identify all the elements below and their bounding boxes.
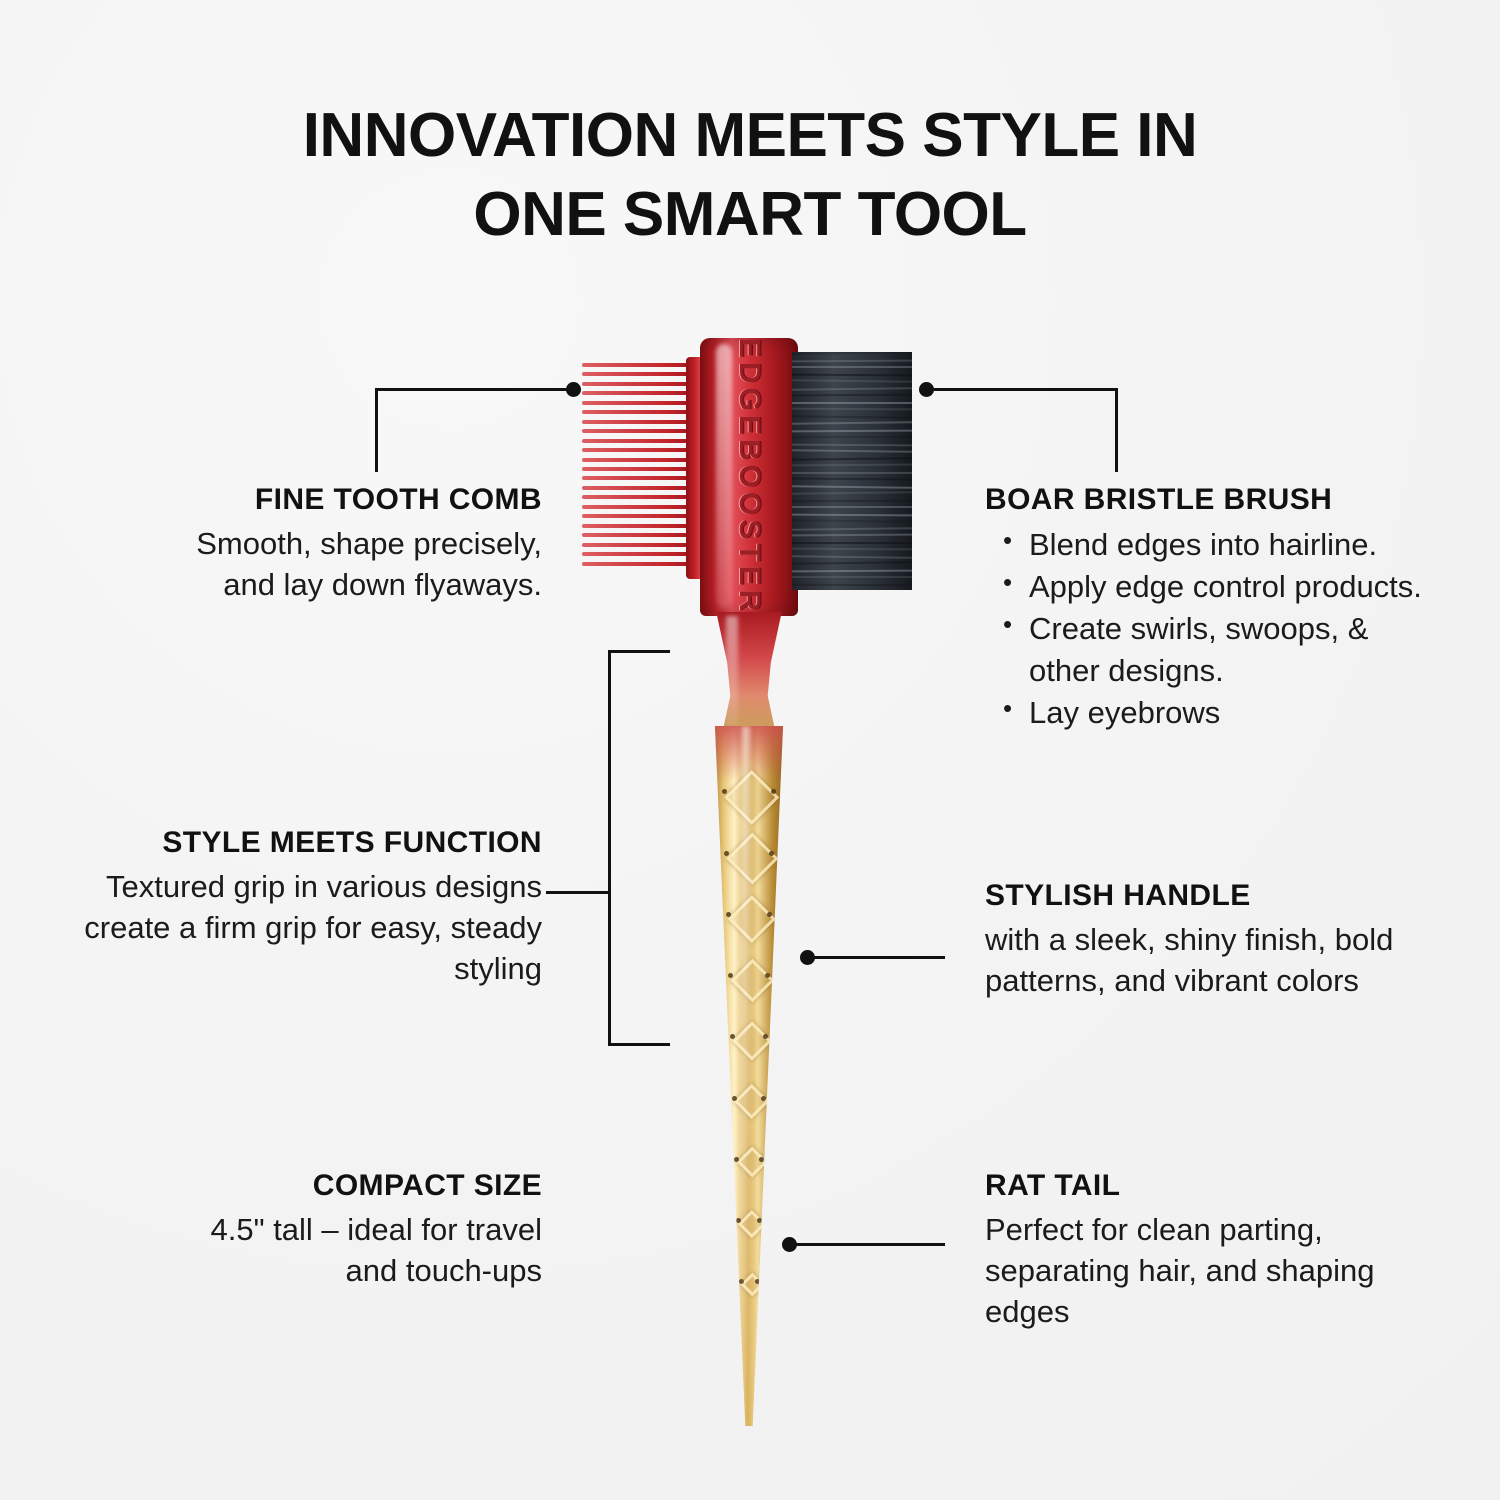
bristle-strand — [792, 394, 912, 397]
page-title-line-1: INNOVATION MEETS STYLE IN — [0, 96, 1500, 175]
lattice-pit — [732, 1096, 737, 1101]
callout-body-style-meets-function: Textured grip in various designs create … — [80, 867, 542, 990]
callout-heading-boar-bristle-brush: BOAR BRISTLE BRUSH — [985, 482, 1425, 518]
callout-heading-rat-tail: RAT TAIL — [985, 1168, 1405, 1204]
bristle-strand — [792, 421, 912, 425]
leader-hline-comb — [375, 388, 571, 391]
brand-logo-text: EDGEBOOSTER — [732, 338, 766, 615]
callout-bullet-list-boar-bristle: Blend edges into hairline.Apply edge con… — [985, 524, 1425, 733]
leader-bracket-bottom-arm — [608, 1043, 670, 1046]
callout-body-fine-tooth-comb: Smooth, shape precisely, and lay down fl… — [150, 524, 542, 606]
bristle-strand — [792, 584, 912, 587]
brush-head: EDGEBOOSTER — [560, 330, 940, 620]
leader-bracket-top-arm — [608, 650, 670, 653]
bristle-strand — [792, 464, 912, 467]
lattice-pit — [726, 912, 731, 917]
callout-fine-tooth-comb: FINE TOOTH COMB Smooth, shape precisely,… — [150, 482, 542, 606]
bristle-strand — [792, 449, 912, 453]
callout-bullet-item: Create swirls, swoops, & other designs. — [1029, 608, 1425, 690]
bristle-strand — [792, 500, 912, 503]
lattice-pit — [724, 851, 729, 856]
lattice-pit — [761, 1096, 766, 1101]
lattice-diamond — [728, 895, 776, 943]
leader-vline-boar — [1115, 388, 1118, 472]
lattice-diamond — [726, 833, 778, 885]
callout-heading-compact-size: COMPACT SIZE — [160, 1168, 542, 1204]
gold-handle-shaft — [712, 726, 786, 1426]
page-title: INNOVATION MEETS STYLE IN ONE SMART TOOL — [0, 96, 1500, 255]
lattice-pit — [757, 1218, 762, 1223]
handle-neck — [710, 612, 788, 732]
callout-boar-bristle-brush: BOAR BRISTLE BRUSH Blend edges into hair… — [985, 482, 1425, 734]
leader-bracket-spine — [608, 650, 611, 1046]
callout-rat-tail: RAT TAIL Perfect for clean parting, sepa… — [985, 1168, 1405, 1333]
lattice-diamond — [724, 770, 780, 826]
lattice-pit — [769, 851, 774, 856]
bristle-strand — [792, 374, 912, 377]
callout-bullet-item: Apply edge control products. — [1029, 566, 1425, 607]
callout-body-compact-size: 4.5" tall – ideal for travel and touch-u… — [160, 1210, 542, 1292]
page-title-line-2: ONE SMART TOOL — [0, 175, 1500, 254]
product-image: EDGEBOOSTER — [560, 330, 940, 1420]
leader-hline-handle — [808, 956, 945, 959]
lattice-diamond — [734, 1084, 770, 1120]
bristle-strand — [792, 570, 912, 573]
neck-gloss-highlight — [726, 616, 738, 726]
bristle-strand — [792, 408, 912, 411]
bristle-strand — [792, 387, 912, 391]
callout-bullet-item: Lay eyebrows — [1029, 692, 1425, 733]
callout-body-rat-tail: Perfect for clean parting, separating ha… — [985, 1210, 1405, 1333]
leader-bracket-stub — [546, 891, 608, 894]
brush-body: EDGEBOOSTER — [700, 338, 798, 616]
callout-stylish-handle: STYLISH HANDLE with a sleek, shiny finis… — [985, 878, 1405, 1002]
bristle-strand — [792, 436, 912, 438]
bristle-strand — [792, 352, 912, 355]
bristle-strand — [792, 514, 912, 517]
bristle-strand — [792, 561, 912, 565]
callout-compact-size: COMPACT SIZE 4.5" tall – ideal for trave… — [160, 1168, 542, 1292]
bristle-strand — [792, 576, 912, 578]
boar-bristle-pad — [792, 352, 912, 590]
bristle-strand — [792, 534, 912, 537]
bristle-strand — [792, 430, 912, 433]
infographic-canvas: INNOVATION MEETS STYLE IN ONE SMART TOOL… — [0, 0, 1500, 1500]
bristle-strand — [792, 478, 912, 481]
bristle-strand — [792, 444, 912, 447]
brand-logo: EDGEBOOSTER — [700, 338, 798, 616]
bristle-strand — [792, 472, 912, 474]
lattice-pit — [767, 912, 772, 917]
callout-heading-style-meets-function: STYLE MEETS FUNCTION — [80, 825, 542, 861]
callout-bullet-item: Blend edges into hairline. — [1029, 524, 1425, 565]
lattice-pit — [759, 1157, 764, 1162]
lattice-diamond — [730, 958, 774, 1002]
bristle-strand — [792, 555, 912, 559]
bristle-strand — [792, 485, 912, 489]
bristle-strand — [792, 506, 912, 508]
callout-style-meets-function: STYLE MEETS FUNCTION Textured grip in va… — [80, 825, 542, 990]
bristle-strand — [792, 491, 912, 495]
bristle-strand — [792, 519, 912, 523]
bristle-strand — [792, 548, 912, 551]
callout-heading-stylish-handle: STYLISH HANDLE — [985, 878, 1405, 914]
bristle-strand — [792, 402, 912, 404]
leader-hline-boar — [927, 388, 1118, 391]
lattice-diamond — [732, 1021, 772, 1061]
lattice-diamond — [736, 1147, 768, 1179]
callout-body-stylish-handle: with a sleek, shiny finish, bold pattern… — [985, 920, 1405, 1002]
bristle-strand — [792, 542, 912, 544]
bristle-strand — [792, 415, 912, 419]
bristle-strand — [792, 379, 912, 383]
leader-hline-rattail — [790, 1243, 945, 1246]
shaft-gloss-highlight — [742, 726, 750, 1426]
bristle-strand — [792, 366, 912, 368]
callout-heading-fine-tooth-comb: FINE TOOTH COMB — [150, 482, 542, 518]
bristle-strand — [792, 527, 912, 531]
leader-vline-comb — [375, 388, 378, 472]
bristle-strand — [792, 457, 912, 461]
bristle-strand — [792, 360, 912, 363]
